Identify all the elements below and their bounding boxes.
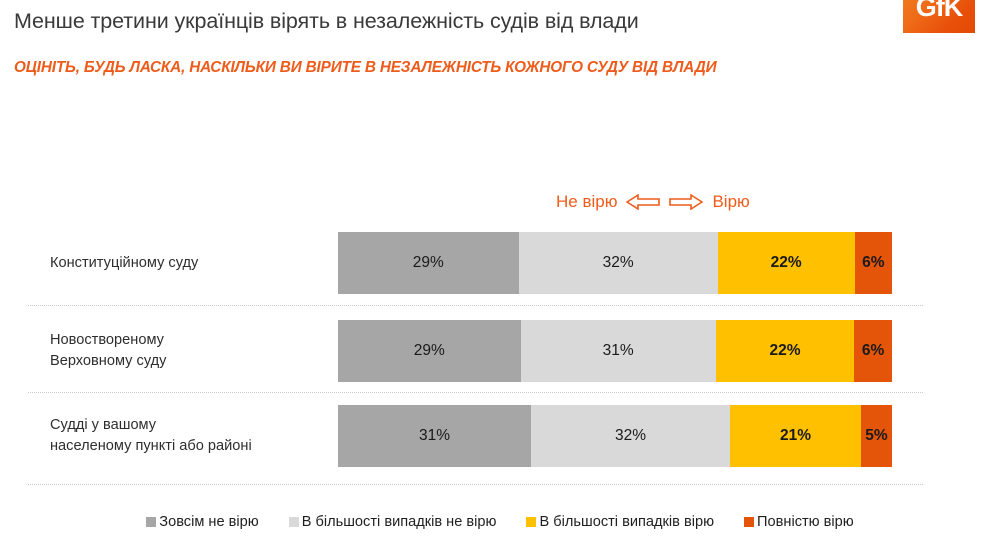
- scale-left-label: Не вірю: [556, 192, 617, 212]
- legend-item[interactable]: Повністю вірю: [744, 514, 854, 530]
- row-label-line: Судді у вашому: [50, 415, 325, 436]
- legend-swatch-icon: [146, 517, 156, 527]
- stacked-bar: 29% 32% 22% 6%: [338, 232, 892, 294]
- gfk-logo: GfK: [903, 0, 975, 33]
- legend-item[interactable]: В більшості випадків не вірю: [289, 514, 497, 530]
- bar-segment-1: 32%: [519, 232, 718, 294]
- row-label-line: Новоствореному: [50, 330, 325, 351]
- legend-label: Зовсім не вірю: [159, 514, 258, 530]
- bar-segment-3: 5%: [861, 405, 892, 467]
- row-label-line: Верховному суду: [50, 351, 325, 372]
- page-title: Менше третини українців вірять в незалеж…: [14, 8, 884, 35]
- row-separator: [28, 305, 923, 307]
- arrow-left-outline-icon: [626, 194, 660, 210]
- legend-swatch-icon: [526, 517, 536, 527]
- gfk-logo-text: GfK: [903, 0, 975, 23]
- bar-segment-0: 29%: [338, 320, 521, 382]
- arrow-right-outline-icon: [669, 194, 703, 210]
- scale-direction-header: Не вірю Вірю: [556, 190, 750, 214]
- bar-segment-2: 22%: [716, 320, 855, 382]
- chart-row: Новоствореному Верховному суду 29% 31% 2…: [0, 320, 1000, 382]
- row-label: Судді у вашому населеному пункті або рай…: [50, 405, 325, 467]
- bar-segment-1: 32%: [531, 405, 730, 467]
- bar-segment-2: 21%: [730, 405, 861, 467]
- legend-label: В більшості випадків не вірю: [302, 514, 497, 530]
- chart-row: Конституційному суду 29% 32% 22% 6%: [0, 232, 1000, 294]
- legend-item[interactable]: В більшості випадків вірю: [526, 514, 714, 530]
- row-separator: [28, 484, 923, 486]
- legend-label: В більшості випадків вірю: [539, 514, 714, 530]
- bar-segment-0: 29%: [338, 232, 519, 294]
- scale-arrows: [626, 194, 703, 210]
- legend-label: Повністю вірю: [757, 514, 854, 530]
- legend-swatch-icon: [744, 517, 754, 527]
- row-label-line: Конституційному суду: [50, 253, 325, 274]
- legend-item[interactable]: Зовсім не вірю: [146, 514, 258, 530]
- stacked-bar: 31% 32% 21% 5%: [338, 405, 892, 467]
- page-subtitle: ОЦІНІТЬ, БУДЬ ЛАСКА, НАСКІЛЬКИ ВИ ВІРИТЕ…: [14, 58, 974, 78]
- bar-segment-3: 6%: [855, 232, 892, 294]
- legend-swatch-icon: [289, 517, 299, 527]
- chart-legend: Зовсім не вірю В більшості випадків не в…: [0, 510, 1000, 534]
- chart-row: Судді у вашому населеному пункті або рай…: [0, 405, 1000, 467]
- bar-segment-0: 31%: [338, 405, 531, 467]
- bar-segment-2: 22%: [718, 232, 855, 294]
- stacked-bar: 29% 31% 22% 6%: [338, 320, 892, 382]
- row-label-line: населеному пункті або районі: [50, 436, 325, 457]
- bar-segment-1: 31%: [521, 320, 716, 382]
- row-separator: [28, 392, 923, 394]
- row-label: Конституційному суду: [50, 232, 325, 294]
- row-label: Новоствореному Верховному суду: [50, 320, 325, 382]
- scale-right-label: Вірю: [712, 192, 749, 212]
- bar-segment-3: 6%: [854, 320, 892, 382]
